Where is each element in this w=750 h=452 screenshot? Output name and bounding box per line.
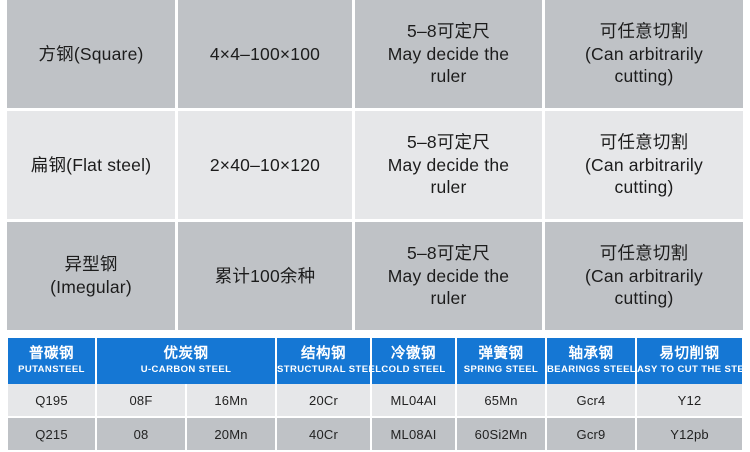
grade-cell: 08F xyxy=(96,384,186,417)
grade-table-header: 普碳钢 PUTANSTEEL 优炭钢 U-CARBON STEEL 结构钢 ST… xyxy=(8,338,742,384)
spec-size-range: 2×40–10×120 xyxy=(178,111,355,222)
grade-header-en: U-CARBON STEEL xyxy=(97,364,275,375)
spec-length-line-en-2: ruler xyxy=(357,287,540,310)
spec-length-option: 5–8可定尺 May decide the ruler xyxy=(355,222,545,333)
spec-product-label: 方钢(Square) xyxy=(9,43,173,66)
table-row: 方钢(Square) 4×4–100×100 5–8可定尺 May decide… xyxy=(7,0,743,111)
spec-product-name: 扁钢(Flat steel) xyxy=(7,111,178,222)
spec-cutting-line-cn: 可任意切割 xyxy=(547,131,741,154)
spec-size-range: 4×4–100×100 xyxy=(178,0,355,111)
grade-header-u-carbon-steel: 优炭钢 U-CARBON STEEL xyxy=(96,338,276,384)
steel-specification-table: 方钢(Square) 4×4–100×100 5–8可定尺 May decide… xyxy=(7,0,743,333)
grade-cell: 16Mn xyxy=(186,384,276,417)
spec-length-line-en-1: May decide the xyxy=(357,43,540,66)
grade-table-body: Q195 08F 16Mn 20Cr ML04AI 65Mn Gcr4 Y12 … xyxy=(8,384,742,451)
grade-header-cn: 冷镦钢 xyxy=(372,346,455,363)
spec-product-label: 异型钢 xyxy=(9,253,173,276)
spec-cutting-line-en-2: cutting) xyxy=(547,287,741,310)
spec-cutting-line-en-2: cutting) xyxy=(547,176,741,199)
spec-cutting-line-cn: 可任意切割 xyxy=(547,242,741,265)
grade-cell: 60Si2Mn xyxy=(456,417,546,451)
grade-header-en: COLD STEEL xyxy=(372,364,455,375)
table-row: Q215 08 20Mn 40Cr ML08AI 60Si2Mn Gcr9 Y1… xyxy=(8,417,742,451)
spec-length-option: 5–8可定尺 May decide the ruler xyxy=(355,0,545,111)
spec-length-line-en-2: ruler xyxy=(357,65,540,88)
spec-length-line-en-1: May decide the xyxy=(357,265,540,288)
spec-length-option: 5–8可定尺 May decide the ruler xyxy=(355,111,545,222)
grade-header-cn: 弹簧钢 xyxy=(457,346,545,363)
grade-header-en: BEARINGS STEEL xyxy=(547,364,635,375)
grade-header-en: SPRING STEEL xyxy=(457,364,545,375)
grade-cell: 20Cr xyxy=(276,384,371,417)
grade-header-en: ASY TO CUT THE STEEL xyxy=(637,364,742,375)
grade-cell: ML04AI xyxy=(371,384,456,417)
spec-length-line-cn: 5–8可定尺 xyxy=(357,131,540,154)
table-row: 扁钢(Flat steel) 2×40–10×120 5–8可定尺 May de… xyxy=(7,111,743,222)
spec-table-body: 方钢(Square) 4×4–100×100 5–8可定尺 May decide… xyxy=(7,0,743,333)
spec-cutting-option: 可任意切割 (Can arbitrarily cutting) xyxy=(545,111,743,222)
grade-header-cold-steel: 冷镦钢 COLD STEEL xyxy=(371,338,456,384)
grade-header-spring-steel: 弹簧钢 SPRING STEEL xyxy=(456,338,546,384)
grade-header-cn: 结构钢 xyxy=(277,346,370,363)
spec-cutting-option: 可任意切割 (Can arbitrarily cutting) xyxy=(545,222,743,333)
spec-cutting-line-en-1: (Can arbitrarily xyxy=(547,154,741,177)
grade-header-easy-to-cut-steel: 易切削钢 ASY TO CUT THE STEEL xyxy=(636,338,742,384)
grade-header-en: PUTANSTEEL xyxy=(8,364,95,375)
grade-header-putansteel: 普碳钢 PUTANSTEEL xyxy=(8,338,96,384)
spec-length-line-cn: 5–8可定尺 xyxy=(357,242,540,265)
spec-product-name: 方钢(Square) xyxy=(7,0,178,111)
spec-cutting-line-en-2: cutting) xyxy=(547,65,741,88)
grade-cell: 08 xyxy=(96,417,186,451)
grade-cell: ML08AI xyxy=(371,417,456,451)
spec-length-line-en-1: May decide the xyxy=(357,154,540,177)
spec-cutting-line-en-1: (Can arbitrarily xyxy=(547,43,741,66)
steel-grade-table: 普碳钢 PUTANSTEEL 优炭钢 U-CARBON STEEL 结构钢 ST… xyxy=(8,338,742,452)
table-row: 异型钢 (Imegular) 累计100余种 5–8可定尺 May decide… xyxy=(7,222,743,333)
grade-header-cn: 普碳钢 xyxy=(8,346,95,363)
grade-cell: 20Mn xyxy=(186,417,276,451)
grade-cell: 40Cr xyxy=(276,417,371,451)
grade-header-structural-steel: 结构钢 STRUCTURAL STEEL xyxy=(276,338,371,384)
grade-cell: Q195 xyxy=(8,384,96,417)
grade-header-cn: 易切削钢 xyxy=(637,346,742,363)
grade-header-cn: 优炭钢 xyxy=(97,346,275,363)
grade-header-en: STRUCTURAL STEEL xyxy=(277,364,370,375)
grade-cell: Gcr9 xyxy=(546,417,636,451)
grade-cell: Gcr4 xyxy=(546,384,636,417)
spec-length-line-cn: 5–8可定尺 xyxy=(357,20,540,43)
grade-header-bearings-steel: 轴承钢 BEARINGS STEEL xyxy=(546,338,636,384)
spec-cutting-option: 可任意切割 (Can arbitrarily cutting) xyxy=(545,0,743,111)
grade-cell: Y12 xyxy=(636,384,742,417)
spec-length-line-en-2: ruler xyxy=(357,176,540,199)
grade-cell: Q215 xyxy=(8,417,96,451)
grade-cell: Y12pb xyxy=(636,417,742,451)
spec-cutting-line-cn: 可任意切割 xyxy=(547,20,741,43)
grade-cell: 65Mn xyxy=(456,384,546,417)
spec-product-label-en: (Imegular) xyxy=(9,276,173,299)
spec-size-range: 累计100余种 xyxy=(178,222,355,333)
grade-header-row: 普碳钢 PUTANSTEEL 优炭钢 U-CARBON STEEL 结构钢 ST… xyxy=(8,338,742,384)
table-row: Q195 08F 16Mn 20Cr ML04AI 65Mn Gcr4 Y12 xyxy=(8,384,742,417)
spec-product-label: 扁钢(Flat steel) xyxy=(9,154,173,177)
spec-cutting-line-en-1: (Can arbitrarily xyxy=(547,265,741,288)
spec-product-name: 异型钢 (Imegular) xyxy=(7,222,178,333)
grade-header-cn: 轴承钢 xyxy=(547,346,635,363)
